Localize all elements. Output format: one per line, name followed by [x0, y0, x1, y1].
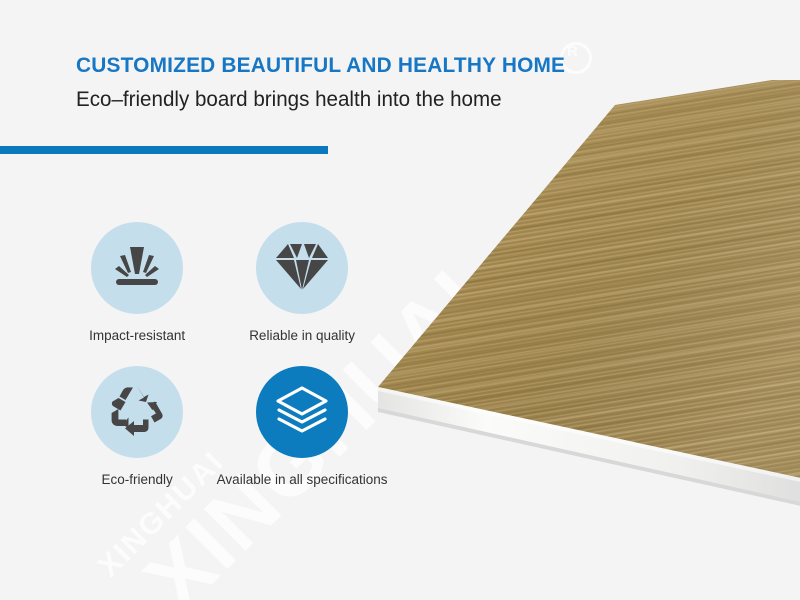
feature-label: Available in all specifications [217, 472, 388, 488]
feature-item-reliable-quality: Reliable in quality [196, 222, 408, 344]
feature-icon-circle [91, 366, 183, 458]
diamond-icon [274, 240, 330, 297]
page-title: CUSTOMIZED BEAUTIFUL AND HEALTHY HOME [76, 54, 565, 78]
header-block: CUSTOMIZED BEAUTIFUL AND HEALTHY HOME Ec… [76, 54, 580, 112]
feature-list: Impact-resistant [78, 222, 408, 510]
feature-label: Eco-friendly [101, 472, 172, 488]
product-banner: XINGHUAI XINGHUAI R [0, 0, 800, 600]
feature-icon-circle [91, 222, 183, 314]
feature-item-impact-resistant: Impact-resistant [78, 222, 196, 344]
feature-item-eco-friendly: Eco-friendly [78, 366, 196, 488]
feature-icon-circle [256, 222, 348, 314]
accent-divider-bar [0, 146, 328, 154]
feature-icon-circle-accent [256, 366, 348, 458]
layers-stack-icon [274, 384, 330, 441]
feature-item-all-specifications: Available in all specifications [196, 366, 408, 488]
recycle-icon [109, 383, 165, 442]
impact-burst-icon [110, 241, 164, 296]
product-board-image [340, 80, 800, 600]
feature-label: Impact-resistant [89, 328, 185, 344]
feature-label: Reliable in quality [249, 328, 355, 344]
page-subtitle: Eco–friendly board brings health into th… [76, 88, 570, 112]
feature-row-bottom: Eco-friendly Available in all specificat… [78, 366, 408, 488]
feature-row-top: Impact-resistant [78, 222, 408, 344]
